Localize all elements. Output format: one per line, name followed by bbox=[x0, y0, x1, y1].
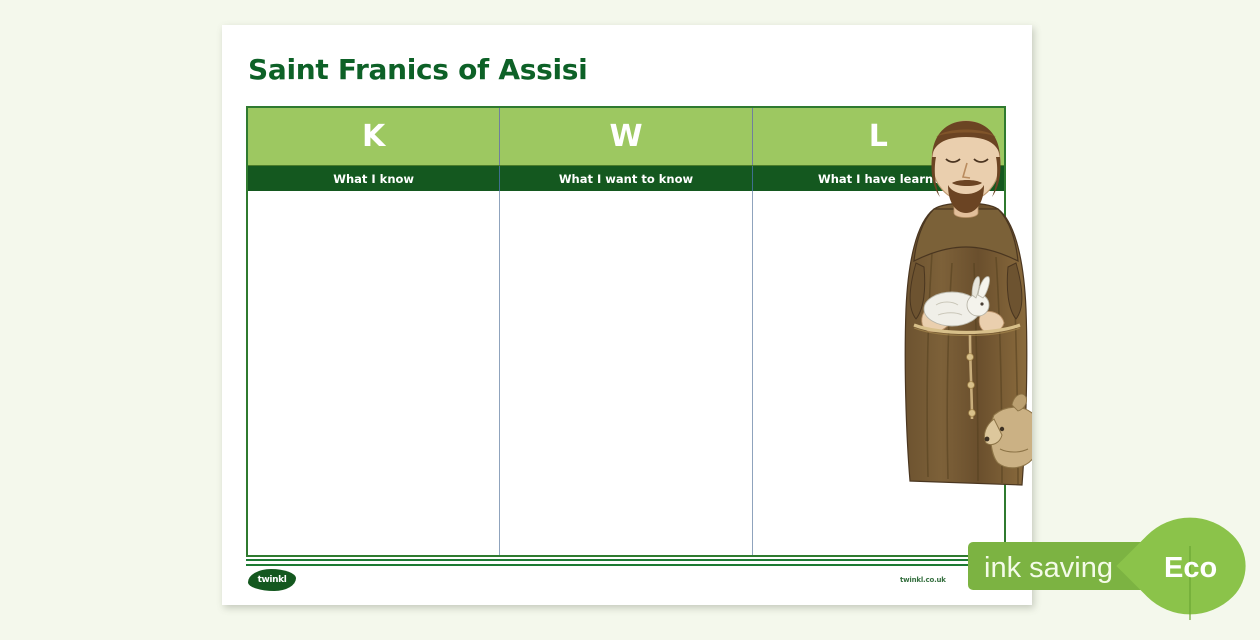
kwl-write-area-w[interactable] bbox=[499, 191, 751, 555]
twinkl-url-mark: twinkl.co.uk bbox=[900, 576, 946, 584]
eco-badge-ink-text: ink saving bbox=[984, 552, 1113, 585]
kwl-subheader-w: What I want to know bbox=[499, 166, 751, 191]
eco-badge-eco-text: Eco bbox=[1164, 552, 1217, 585]
footer-rule-top bbox=[246, 559, 1006, 561]
kwl-header-w: W bbox=[499, 108, 751, 165]
kwl-subheader-k: What I know bbox=[248, 166, 499, 191]
saint-francis-illustration bbox=[890, 113, 1032, 495]
worksheet-sheet: Saint Franics of Assisi K W L What I kno… bbox=[222, 25, 1032, 605]
footer-rule-bottom bbox=[246, 564, 1006, 566]
twinkl-logo: twinkl bbox=[248, 569, 296, 591]
page-title: Saint Franics of Assisi bbox=[248, 53, 587, 86]
kwl-write-area-k[interactable] bbox=[248, 191, 499, 555]
twinkl-logo-text: twinkl bbox=[248, 569, 296, 591]
ink-saving-eco-badge: ink saving Eco bbox=[968, 532, 1260, 600]
kwl-header-k: K bbox=[248, 108, 499, 165]
